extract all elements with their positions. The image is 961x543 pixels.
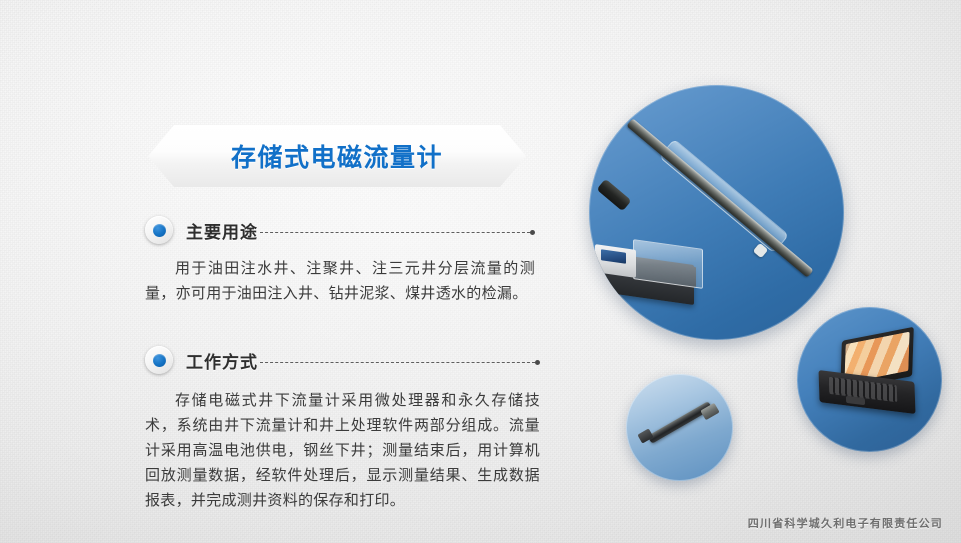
bullet-dot-icon [153, 224, 166, 237]
page-title: 存储式电磁流量计 [231, 138, 443, 174]
dashed-rule-end-dot [535, 360, 540, 365]
section-heading-main-purpose: 主要用途 [186, 218, 258, 243]
section-header: 工作方式 [145, 343, 540, 377]
photo-downhole-flowmeter-tool-and-instrument-case [589, 85, 844, 340]
title-banner: 存储式电磁流量计 [148, 125, 526, 187]
laptop [819, 334, 919, 416]
dashed-rule [260, 232, 530, 233]
bullet-circle-icon [145, 346, 173, 374]
section-body-working-method: 存储电磁式井下流量计采用微处理器和永久存储技术，系统由井下流量计和井上处理软件两… [145, 388, 540, 513]
section-body-main-purpose: 用于油田注水井、注聚井、注三元井分层流量的测量，亦可用于油田注入井、钻井泥浆、煤… [145, 256, 535, 306]
slide-canvas: 存储式电磁流量计 主要用途 用于油田注水井、注聚井、注三元井分层流量的测量，亦可… [0, 0, 961, 543]
bullet-circle-icon [145, 216, 173, 244]
section-main-purpose: 主要用途 用于油田注水井、注聚井、注三元井分层流量的测量，亦可用于油田注入井、钻… [145, 213, 535, 306]
company-footer: 四川省科学城久利电子有限责任公司 [748, 515, 943, 531]
flowmeter-tool-cap [596, 179, 631, 212]
probe-body [647, 401, 712, 444]
dashed-rule-end-dot [530, 230, 535, 235]
section-header: 主要用途 [145, 213, 535, 247]
photo-laptop-computer [797, 307, 942, 452]
section-working-method: 工作方式 存储电磁式井下流量计采用微处理器和永久存储技术，系统由井下流量计和井上… [145, 343, 540, 513]
bullet-dot-icon [153, 354, 166, 367]
instrument-case [594, 238, 706, 306]
dashed-rule [260, 362, 535, 363]
section-heading-working-method: 工作方式 [186, 348, 258, 373]
photo-probe-sensor [626, 374, 733, 481]
